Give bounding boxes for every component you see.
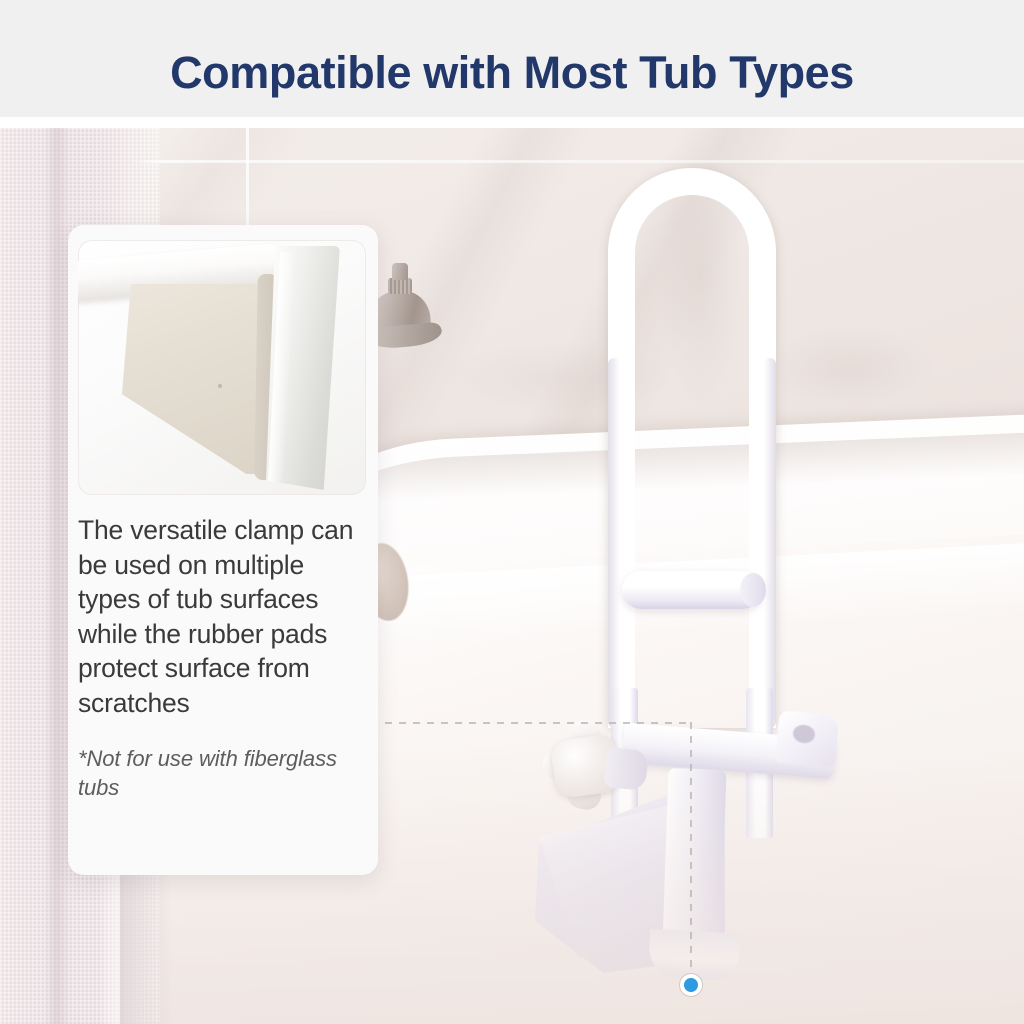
grab-bar-cross-end-cap <box>740 573 766 607</box>
inset-surface-speck <box>218 384 222 388</box>
curtain-fold <box>44 128 70 1024</box>
faucet-diverter-knob <box>392 263 408 280</box>
inset-rubber-pad <box>122 284 270 474</box>
grab-bar-highlight <box>616 176 768 728</box>
grab-bar-arch <box>608 168 776 728</box>
info-card-disclaimer: *Not for use with fiberglass tubs <box>78 744 370 802</box>
header-divider <box>0 117 1024 128</box>
callout-line-vertical <box>690 722 692 977</box>
page-title: Compatible with Most Tub Types <box>0 47 1024 99</box>
tub-spout-faucet <box>366 263 476 378</box>
grab-bar-shade-right <box>764 358 776 728</box>
faucet-diverter-neck <box>388 278 412 294</box>
inset-closeup-photo <box>78 240 366 495</box>
callout-marker-core <box>684 978 698 992</box>
info-card-body: The versatile clamp can be used on multi… <box>78 513 370 802</box>
info-card-description: The versatile clamp can be used on multi… <box>78 513 370 720</box>
callout-line-horizontal <box>385 722 693 724</box>
info-card: The versatile clamp can be used on multi… <box>68 225 378 875</box>
grab-bar-shade-left <box>608 358 620 728</box>
callout-marker-dot <box>680 974 702 996</box>
product-feature-image: Compatible with Most Tub Types <box>0 0 1024 1024</box>
